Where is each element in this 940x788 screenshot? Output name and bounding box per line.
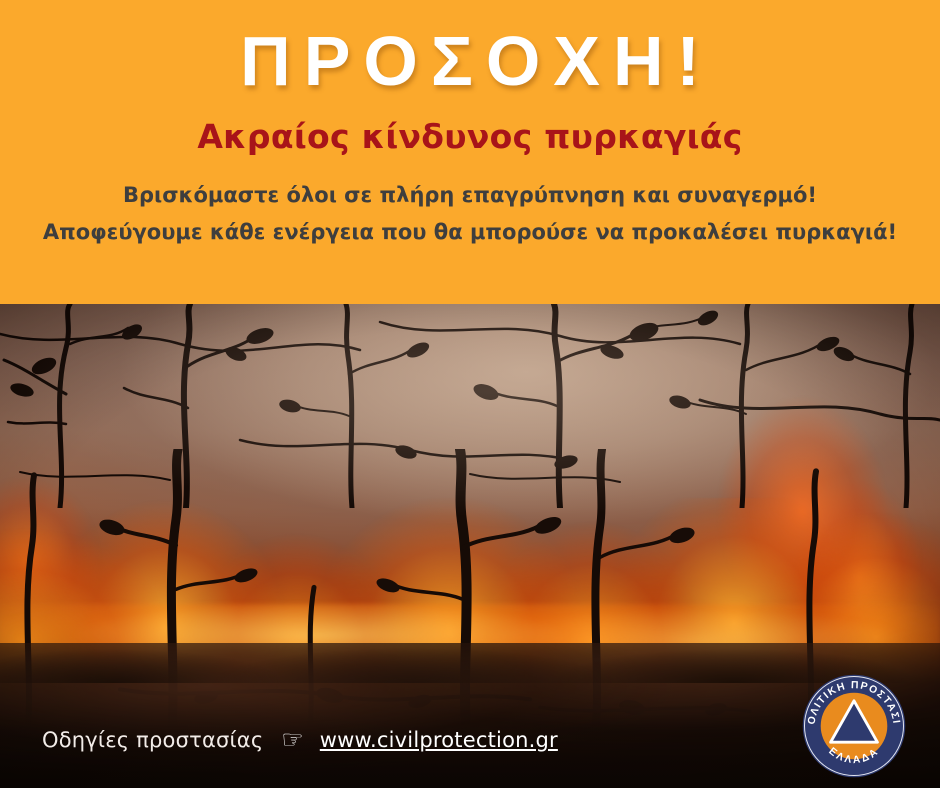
advisory-message-block: Βρισκόμαστε όλοι σε πλήρη επαγρύπνηση κα… bbox=[0, 182, 940, 245]
protection-instructions-label: Οδηγίες προστασίας bbox=[42, 728, 263, 752]
advisory-line-1: Βρισκόμαστε όλοι σε πλήρη επαγρύπνηση κα… bbox=[123, 182, 817, 208]
civil-protection-emblem-svg: ΠΟΛΙΤΙΚΗ ΠΡΟΣΤΑΣΙΑ ΕΛΛΑΔΑ bbox=[800, 672, 908, 780]
footer-bar: Οδηγίες προστασίας ☞ www.civilprotection… bbox=[0, 692, 940, 788]
wildfire-photograph: Οδηγίες προστασίας ☞ www.civilprotection… bbox=[0, 304, 940, 788]
advisory-line-2: Αποφεύγουμε κάθε ενέργεια που θα μπορούσ… bbox=[43, 219, 897, 245]
alert-level-subtitle: Ακραίος κίνδυνος πυρκαγιάς bbox=[197, 118, 742, 156]
page-title: ΠΡΟΣΟΧΗ! bbox=[227, 22, 713, 100]
header-banner: ΠΡΟΣΟΧΗ! Ακραίος κίνδυνος πυρκαγιάς Βρισ… bbox=[0, 0, 940, 304]
civilprotection-website-link[interactable]: www.civilprotection.gr bbox=[320, 728, 558, 752]
wildfire-warning-poster: ΠΡΟΣΟΧΗ! Ακραίος κίνδυνος πυρκαγιάς Βρισ… bbox=[0, 0, 940, 788]
pointing-hand-icon: ☞ bbox=[281, 727, 303, 752]
civil-protection-logo[interactable]: ΠΟΛΙΤΙΚΗ ΠΡΟΣΤΑΣΙΑ ΕΛΛΑΔΑ bbox=[800, 672, 908, 780]
